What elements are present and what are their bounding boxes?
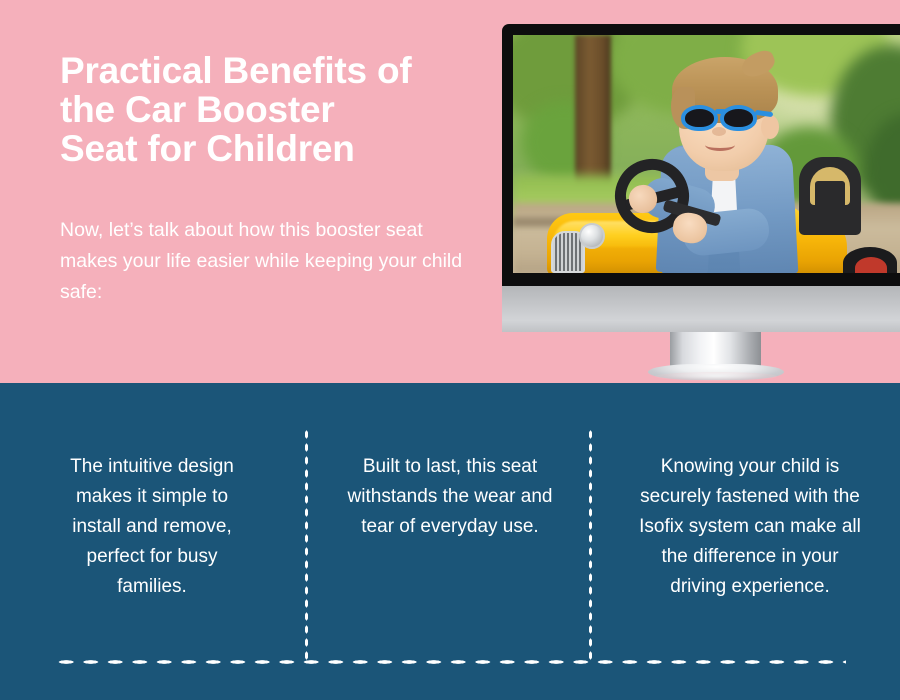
monitor-bezel [502, 24, 900, 286]
blue-sunglasses [681, 105, 765, 131]
toy-car-seat-inner [815, 181, 845, 211]
monitor-screen [513, 35, 900, 273]
monitor-chin [502, 286, 900, 332]
benefits-row: The intuitive design makes it simple to … [0, 452, 900, 602]
sunglasses-bridge [715, 109, 726, 114]
benefit-column-durability: Built to last, this seat withstands the … [300, 452, 600, 602]
hero-photo [513, 35, 900, 273]
sunglasses-left-lens [681, 105, 718, 131]
benefit-column-isofix-safety: Knowing your child is securely fastened … [600, 452, 900, 602]
toy-car-headlamp [579, 223, 605, 249]
child-smile [705, 139, 735, 151]
toy-car-wheel-hub [855, 257, 887, 273]
page-title: Practical Benefits of the Car Booster Se… [60, 51, 480, 168]
sunglasses-right-lens [720, 105, 757, 131]
intro-paragraph: Now, let’s talk about how this booster s… [60, 215, 470, 308]
horizontal-dotted-divider [54, 659, 846, 665]
benefit-column-easy-install: The intuitive design makes it simple to … [0, 452, 300, 602]
monitor-stand-reflection [655, 372, 777, 381]
infographic-canvas: Practical Benefits of the Car Booster Se… [0, 0, 900, 700]
